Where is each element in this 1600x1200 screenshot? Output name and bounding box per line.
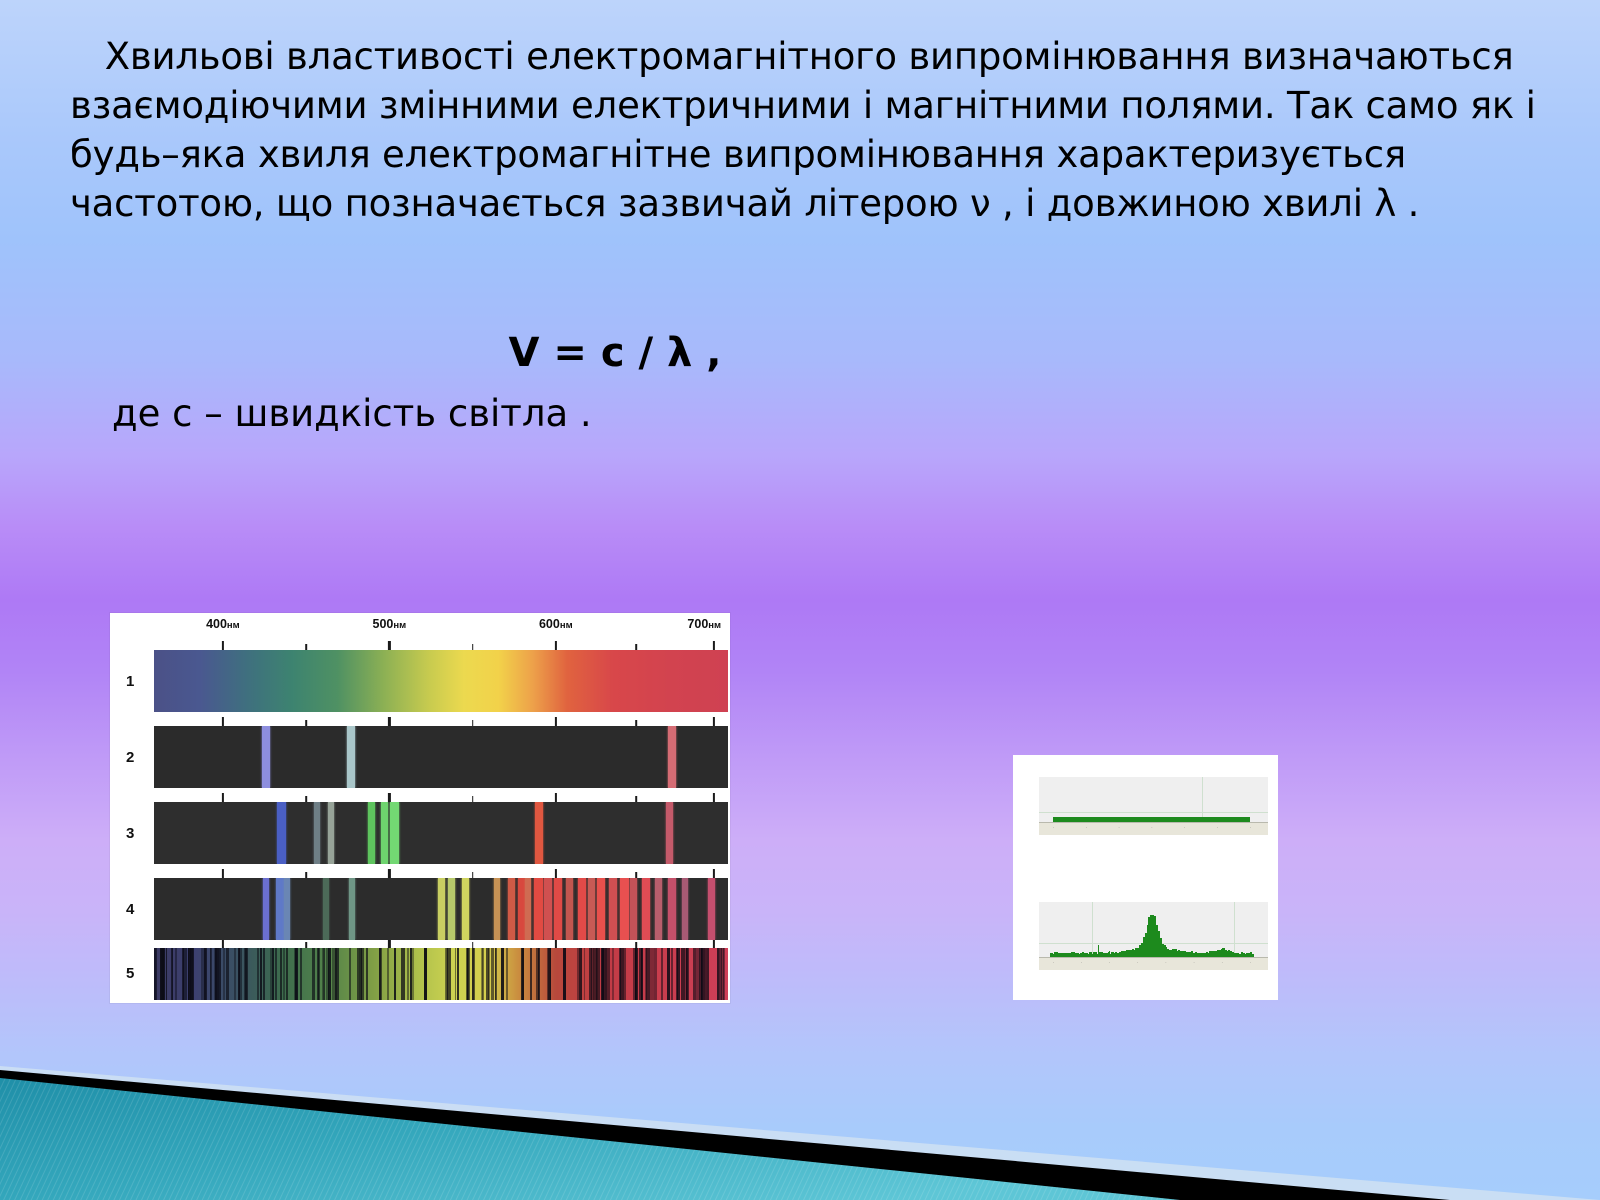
row-label-4: 4 — [126, 901, 134, 918]
axis-tick-label: · — [1086, 825, 1087, 830]
spectral-line — [263, 878, 269, 940]
row-label-2: 2 — [126, 749, 134, 766]
emission-lines-4 — [154, 878, 728, 940]
spectral-line — [668, 878, 675, 940]
emission-lines-3 — [154, 802, 728, 864]
spectral-line — [381, 802, 388, 864]
spectral-line — [368, 802, 375, 864]
tick-mark — [222, 793, 224, 802]
spectral-line — [682, 878, 688, 940]
tick-row-4 — [154, 869, 728, 878]
spectral-line — [347, 726, 355, 788]
tick-mark — [555, 717, 557, 726]
trace-flat — [1039, 800, 1268, 822]
row-label-1: 1 — [126, 673, 134, 690]
axis-tick-label: · — [1250, 825, 1251, 830]
emission-lines-2 — [154, 726, 728, 788]
formula-note: де с – швидкість світла . — [112, 392, 592, 435]
tick-mark — [388, 641, 390, 650]
spectral-line — [390, 802, 398, 864]
scale-label-600: 600нм — [539, 617, 573, 631]
axis-tick-label: · — [1137, 960, 1138, 965]
spectral-line — [448, 878, 454, 940]
tick-mark — [713, 641, 715, 650]
scale-label-500: 500нм — [373, 617, 407, 631]
spectral-line — [277, 802, 286, 864]
bottom-decoration — [0, 970, 1600, 1200]
spectrum-row-4 — [154, 878, 728, 940]
axis-tick-label: · — [1081, 960, 1082, 965]
spectral-line — [642, 878, 650, 940]
axis-strip-bottom: ········ — [1039, 957, 1268, 970]
spectral-line — [323, 878, 329, 940]
tick-mark — [713, 869, 715, 878]
tick-row-1 — [154, 641, 728, 650]
tick-mark — [555, 793, 557, 802]
spectral-line — [597, 878, 606, 940]
spectral-line — [609, 878, 616, 940]
spectral-line — [588, 878, 595, 940]
spectral-line — [668, 726, 676, 788]
axis-tick-label: · — [1184, 825, 1185, 830]
axis-tick-label: · — [1151, 825, 1152, 830]
spectrum-row-2 — [154, 726, 728, 788]
tick-mark — [388, 793, 390, 802]
tick-mark — [222, 641, 224, 650]
tick-mark — [713, 939, 715, 948]
spectral-line — [544, 878, 551, 940]
tick-mark — [388, 869, 390, 878]
scale-label-700: 700нм — [687, 617, 721, 631]
spectral-line — [508, 878, 515, 940]
axis-tick-label: · — [1053, 825, 1054, 830]
spectral-line — [630, 878, 637, 940]
spectral-line — [284, 878, 290, 940]
spectral-line — [525, 878, 531, 940]
trace-spike — [1098, 945, 1100, 957]
tick-mark — [222, 939, 224, 948]
tick-mark — [555, 641, 557, 650]
body-paragraph: Хвильові властивості електромагнітного в… — [70, 32, 1570, 228]
spectrum-row-1 — [154, 650, 728, 712]
axis-tick-label: · — [1109, 960, 1110, 965]
tick-row-5 — [154, 939, 728, 948]
row-label-3: 3 — [126, 825, 134, 842]
axis-tick-label: · — [1053, 960, 1054, 965]
axis-tick-label: · — [1217, 825, 1218, 830]
tick-mark — [222, 869, 224, 878]
tick-row-2 — [154, 717, 728, 726]
tick-mark — [713, 793, 715, 802]
axis-tick-label: · — [1250, 960, 1251, 965]
tick-mark — [555, 869, 557, 878]
axis-tick-label: · — [1222, 960, 1223, 965]
spectrum-figure: 400нм500нм600нм700нм 1 2 3 4 5 — [110, 613, 730, 1003]
spectral-line — [554, 878, 563, 940]
axis-tick-label: · — [1118, 825, 1119, 830]
spectral-line — [620, 878, 629, 940]
spectral-line — [462, 878, 469, 940]
spectral-line — [666, 802, 673, 864]
trace-peak — [1039, 915, 1268, 957]
spectrum-row-3 — [154, 802, 728, 864]
tick-mark — [388, 717, 390, 726]
axis-tick-label: · — [1165, 960, 1166, 965]
spectral-line — [535, 802, 543, 864]
tick-row-3 — [154, 793, 728, 802]
axis-strip-top: ······· — [1039, 822, 1268, 835]
spectral-line — [276, 878, 284, 940]
axis-tick-label: · — [1193, 960, 1194, 965]
scale-label-400: 400нм — [206, 617, 240, 631]
spectral-line — [328, 802, 334, 864]
spectral-line — [262, 726, 270, 788]
continuous-spectrum-gradient — [154, 650, 728, 712]
spectral-line — [708, 878, 715, 940]
spectral-line — [534, 878, 543, 940]
analyzer-plot-bottom: ········ — [1039, 902, 1268, 970]
tick-mark — [222, 717, 224, 726]
analyzer-figure: ······· ········ — [1013, 755, 1278, 1000]
spectral-line — [349, 878, 355, 940]
tick-mark — [555, 939, 557, 948]
spectral-line — [494, 878, 500, 940]
spectral-line — [655, 878, 662, 940]
spectral-line — [314, 802, 320, 864]
tick-mark — [388, 939, 390, 948]
tick-mark — [713, 717, 715, 726]
spectral-line — [578, 878, 586, 940]
formula-line: V = c / λ , — [0, 330, 1230, 376]
spectral-line — [438, 878, 445, 940]
analyzer-plot-top: ······· — [1039, 777, 1268, 835]
spectral-line — [566, 878, 573, 940]
